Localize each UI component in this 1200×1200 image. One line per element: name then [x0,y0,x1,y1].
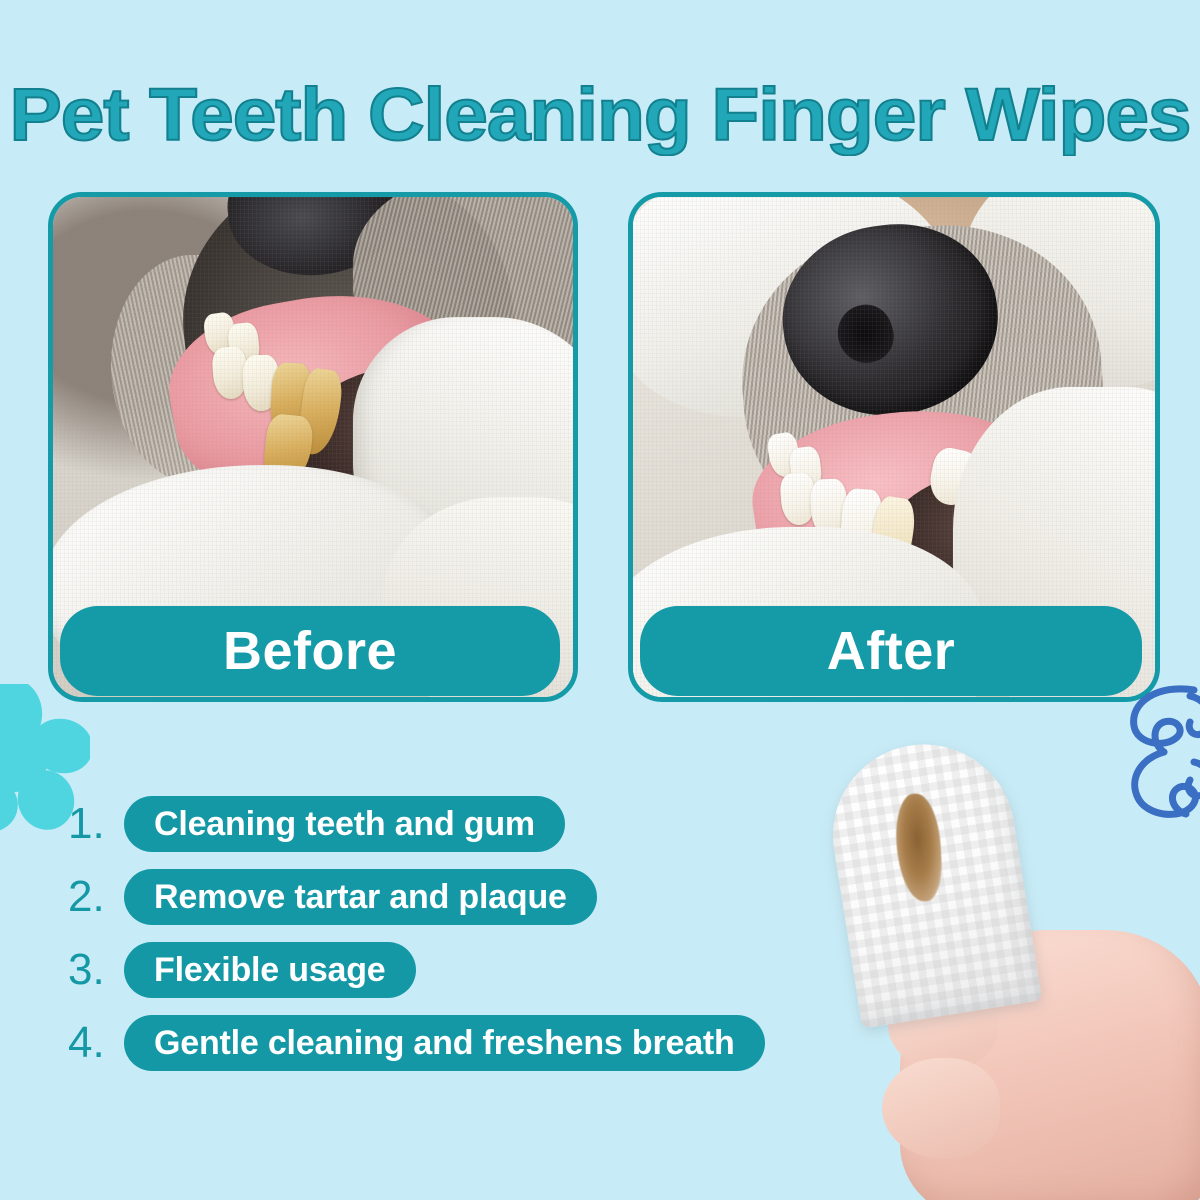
before-label-banner: Before [60,606,560,696]
tartar-stain [894,792,944,902]
hand-knuckle [882,1058,1000,1158]
page-title: Pet Teeth Cleaning Finger Wipes [0,72,1200,158]
finger-wipe [820,731,1042,1028]
feature-number: 4. [62,1021,124,1065]
before-label: Before [223,620,397,682]
feature-number: 3. [62,948,124,992]
list-item: 3. Flexible usage [62,942,882,998]
after-label: After [827,620,956,682]
after-label-banner: After [640,606,1142,696]
feature-number: 1. [62,802,124,846]
feature-pill-4[interactable]: Gentle cleaning and freshens breath [124,1015,765,1071]
feature-pill-2[interactable]: Remove tartar and plaque [124,869,597,925]
feature-pill-3[interactable]: Flexible usage [124,942,416,998]
feature-pill-1[interactable]: Cleaning teeth and gum [124,796,565,852]
list-item: 1. Cleaning teeth and gum [62,796,882,852]
list-item: 4. Gentle cleaning and freshens breath [62,1015,882,1071]
product-image [830,740,1200,1200]
list-item: 2. Remove tartar and plaque [62,869,882,925]
infographic-canvas: Pet Teeth Cleaning Finger Wipes [0,0,1200,1200]
feature-list: 1. Cleaning teeth and gum 2. Remove tart… [62,796,882,1088]
feature-number: 2. [62,875,124,919]
